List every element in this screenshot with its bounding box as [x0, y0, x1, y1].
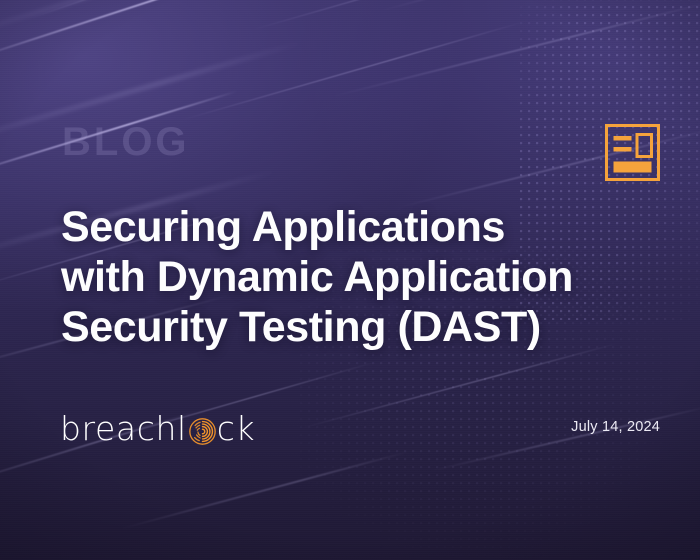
- logo-text-trailing: ck: [217, 412, 255, 445]
- page-title: Securing Applications with Dynamic Appli…: [61, 202, 651, 352]
- banner-content: BLOG Securing Applications with Dynamic …: [0, 0, 700, 560]
- publish-date: July 14, 2024: [571, 419, 660, 435]
- article-layout-icon: [605, 124, 660, 181]
- blog-hero-banner: BLOG Securing Applications with Dynamic …: [0, 0, 700, 560]
- eyebrow-label: BLOG: [62, 122, 190, 162]
- logo-text-leading: breachl: [60, 412, 187, 445]
- fingerprint-icon: [189, 418, 216, 445]
- breachlock-logo[interactable]: breachl: [60, 408, 255, 448]
- title-line-2: with Dynamic Application: [61, 252, 651, 302]
- title-line-3: Security Testing (DAST): [61, 302, 651, 352]
- title-line-1: Securing Applications: [61, 202, 651, 252]
